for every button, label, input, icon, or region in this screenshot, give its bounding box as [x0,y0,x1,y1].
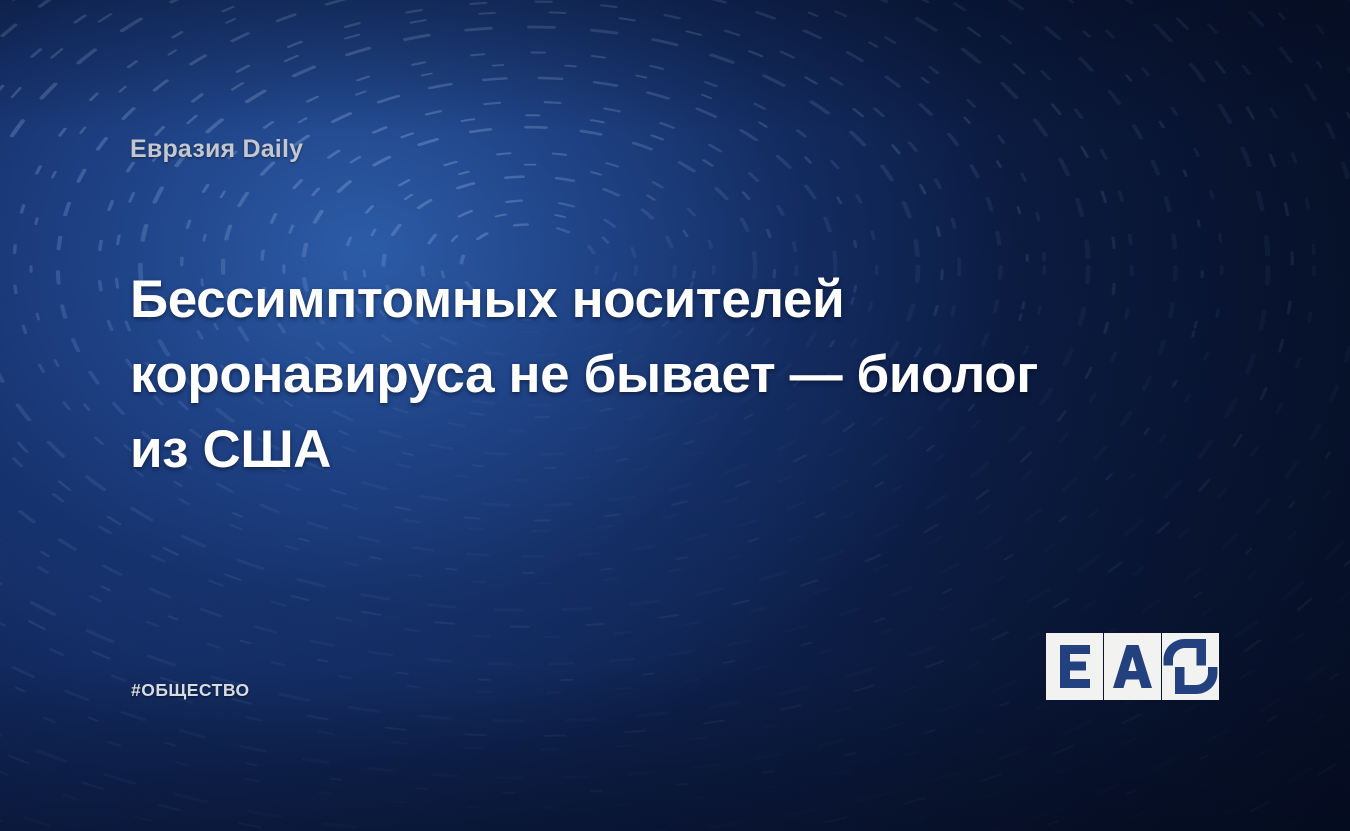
logo-tile-e [1046,633,1103,700]
ead-logo[interactable] [1046,633,1219,700]
site-name[interactable]: Евразия Daily [130,135,303,164]
category-tag[interactable]: #ОБЩЕСТВО [131,680,250,701]
article-headline: Бессимптомных носителей коронавируса не … [130,262,1090,487]
card-content: Евразия Daily Бессимптомных носителей ко… [0,0,1350,831]
headline-line-2: коронавируса не бывает — биолог [130,337,1090,412]
social-share-card: Евразия Daily Бессимптомных носителей ко… [0,0,1350,831]
headline-line-3: из США [130,412,1090,487]
logo-tile-d-split [1162,633,1219,700]
logo-tile-a [1104,633,1161,700]
headline-line-1: Бессимптомных носителей [130,262,1090,337]
